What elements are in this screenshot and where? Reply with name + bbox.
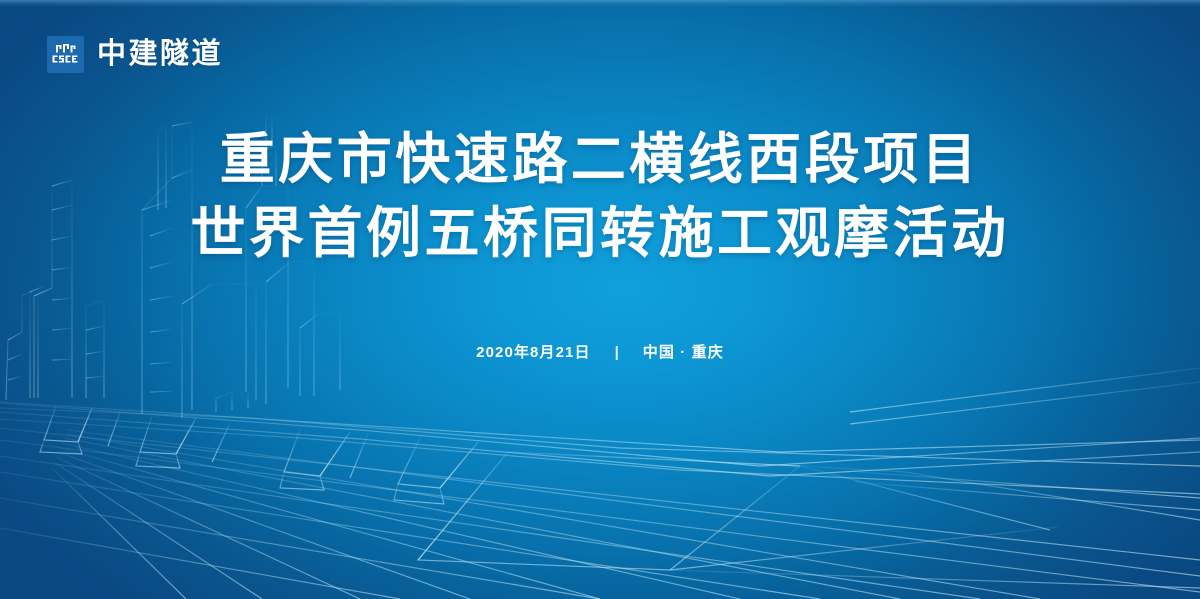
event-meta: 2020年8月21日 | 中国 · 重庆 [0, 345, 1200, 360]
event-location: 中国 · 重庆 [643, 345, 724, 360]
background-top-light-band [0, 0, 1200, 7]
cscec-logo-glyph [51, 43, 80, 66]
event-date: 2020年8月21日 [476, 345, 590, 360]
meta-separator: | [615, 345, 619, 360]
title-line-1: 重庆市快速路二横线西段项目 [0, 122, 1200, 196]
brand-name: 中建隧道 [97, 40, 223, 69]
cscec-logo-icon [47, 36, 84, 73]
page-title: 重庆市快速路二横线西段项目 世界首例五桥同转施工观摩活动 [0, 122, 1200, 270]
title-line-2: 世界首例五桥同转施工观摩活动 [0, 196, 1200, 270]
event-banner: 中建隧道 重庆市快速路二横线西段项目 世界首例五桥同转施工观摩活动 2020年8… [0, 0, 1200, 599]
background-vignette [0, 0, 1200, 599]
brand-lockup: 中建隧道 [47, 36, 223, 73]
